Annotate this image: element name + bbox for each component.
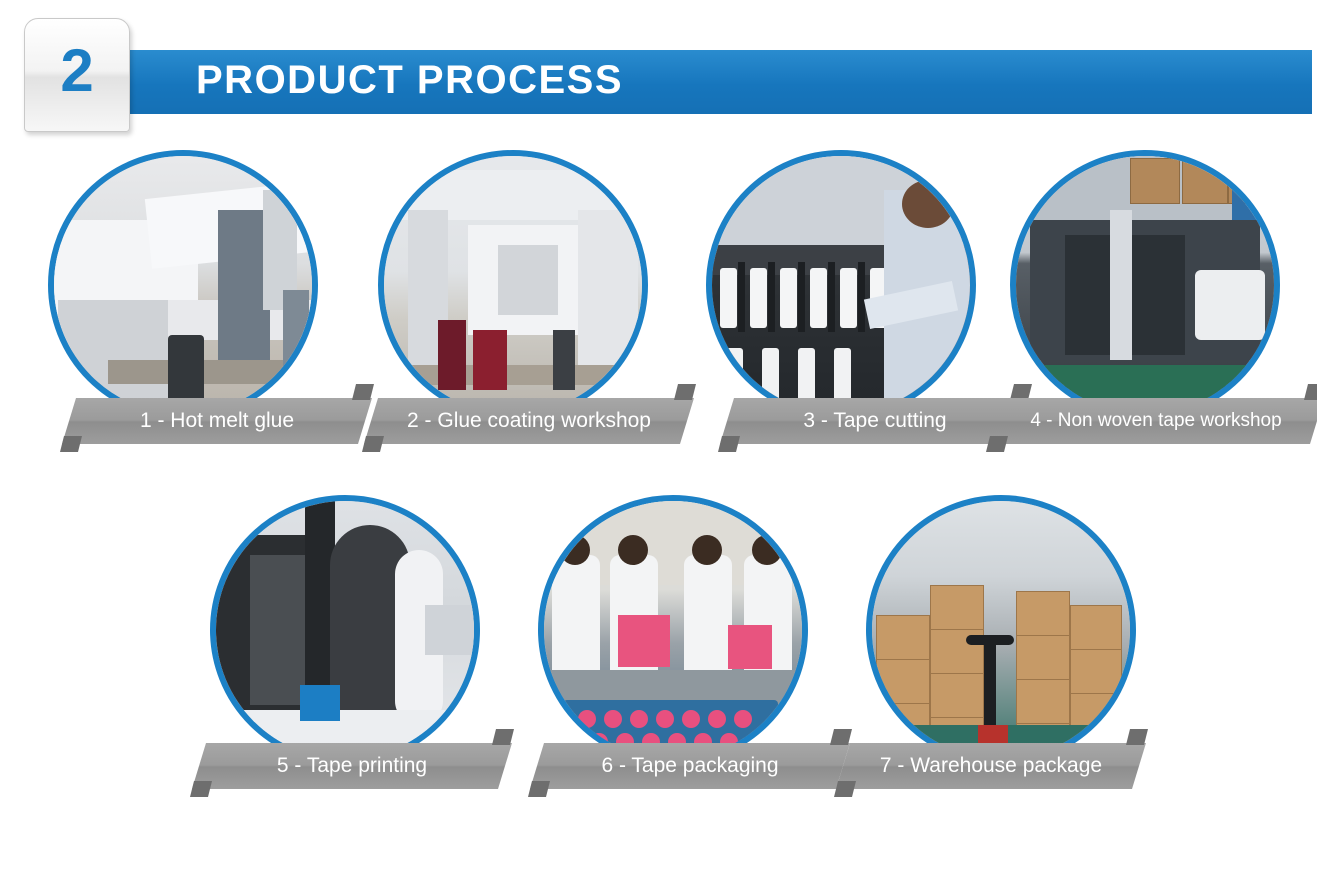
step-7-label: 7 - Warehouse package — [836, 743, 1146, 789]
step-5-label-banner: 5 - Tape printing — [192, 743, 512, 789]
non-woven-tape-workshop-photo — [1010, 150, 1280, 420]
step-2-label: 2 - Glue coating workshop — [364, 398, 694, 444]
tape-packaging-workers-photo — [538, 495, 808, 765]
step-3-photo-circle — [706, 150, 976, 420]
warehouse-package-cartons-photo — [866, 495, 1136, 765]
step-4-photo-circle — [1010, 150, 1280, 420]
process-row-1: 1 - Hot melt glue 2 - Glue coating works… — [0, 150, 1317, 470]
step-2-photo-circle — [378, 150, 648, 420]
step-6-photo-circle — [538, 495, 808, 765]
tape-cutting-machine-photo — [706, 150, 976, 420]
header-divider-line — [740, 130, 1317, 131]
step-5-photo-circle — [210, 495, 480, 765]
step-7-label-banner: 7 - Warehouse package — [836, 743, 1146, 789]
page-header: PRODUCT PROCESS 2 — [0, 0, 1317, 140]
step-3-label-banner: 3 - Tape cutting — [720, 398, 1030, 444]
page-title: PRODUCT PROCESS — [196, 58, 623, 103]
step-4-label-banner: 4 - Non woven tape workshop — [988, 398, 1317, 444]
step-7-photo-circle — [866, 495, 1136, 765]
step-1-photo-circle — [48, 150, 318, 420]
step-6-label: 6 - Tape packaging — [530, 743, 850, 789]
section-number-label: 2 — [25, 19, 129, 123]
process-row-2: 5 - Tape printing 6 - — [0, 495, 1317, 815]
step-1-label: 1 - Hot melt glue — [62, 398, 372, 444]
step-3-label: 3 - Tape cutting — [720, 398, 1030, 444]
step-5-label: 5 - Tape printing — [192, 743, 512, 789]
step-6-label-banner: 6 - Tape packaging — [530, 743, 850, 789]
step-1-label-banner: 1 - Hot melt glue — [62, 398, 372, 444]
tape-printing-machine-photo — [210, 495, 480, 765]
step-2-label-banner: 2 - Glue coating workshop — [364, 398, 694, 444]
hot-melt-glue-machine-photo — [48, 150, 318, 420]
step-4-label: 4 - Non woven tape workshop — [988, 398, 1317, 444]
glue-coating-workshop-photo — [378, 150, 648, 420]
section-number-badge: 2 — [24, 18, 130, 132]
